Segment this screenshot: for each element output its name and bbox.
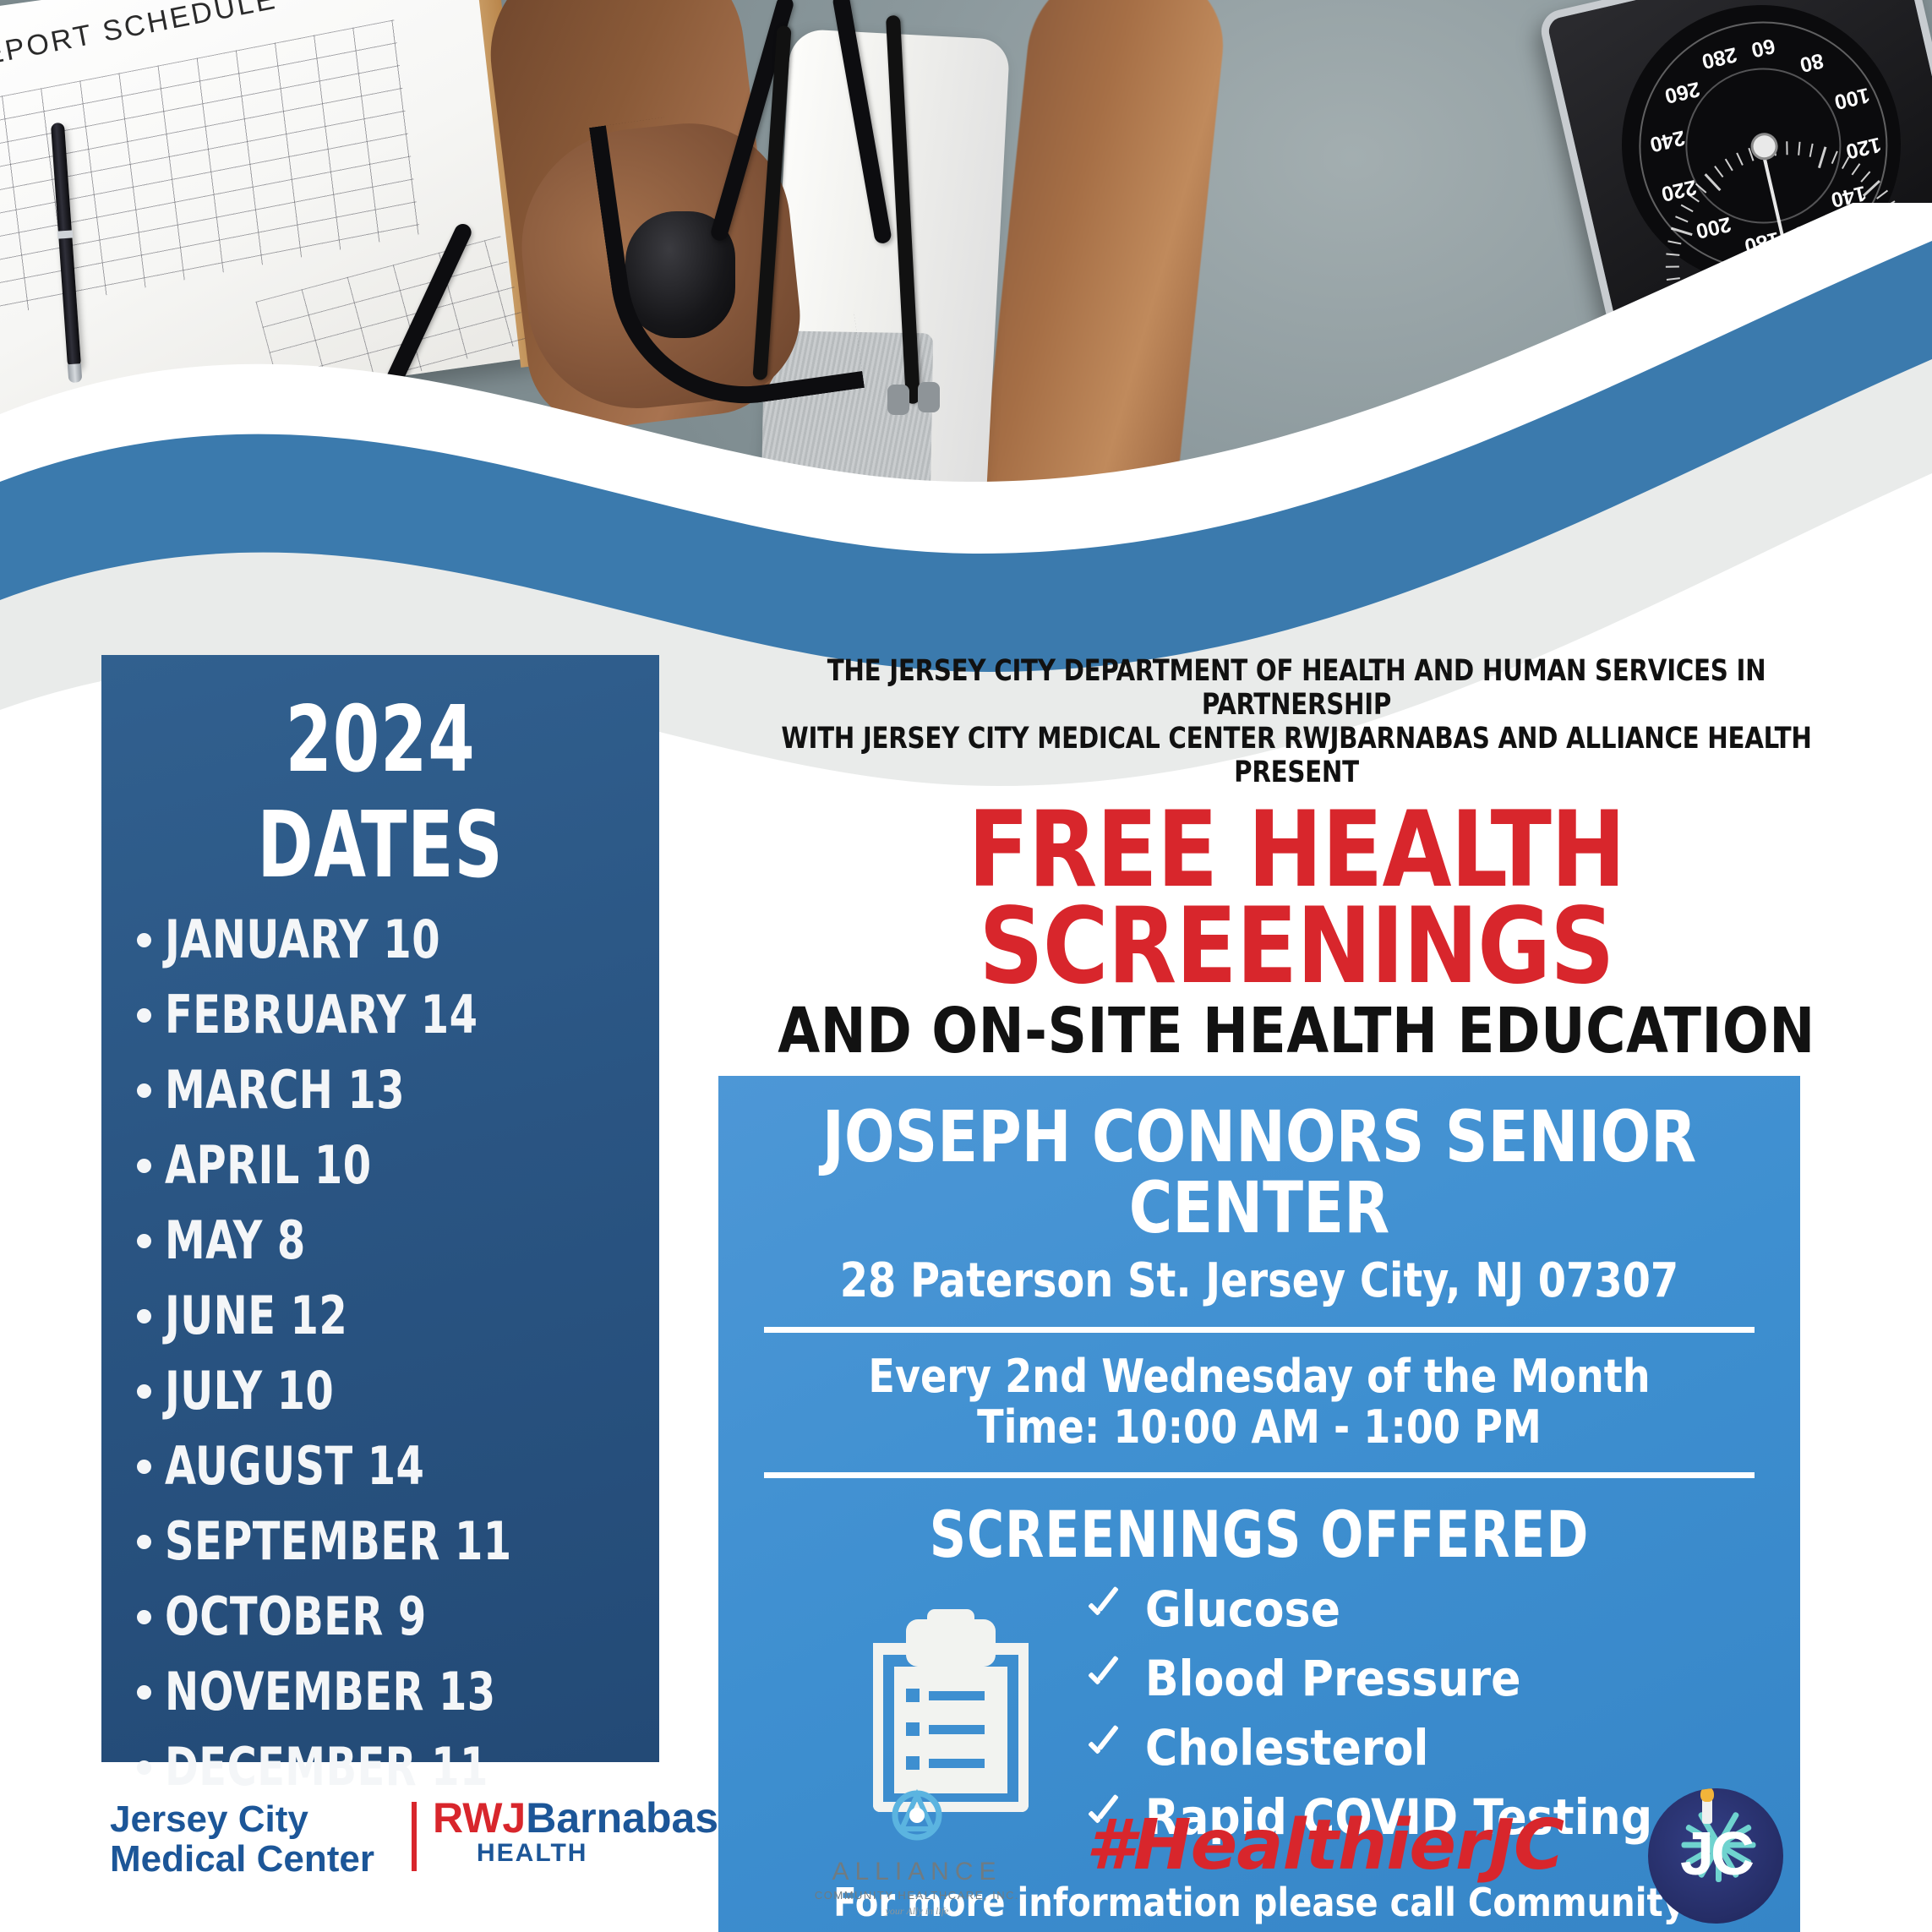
schedule-line-2: Time: 10:00 AM - 1:00 PM <box>781 1402 1738 1453</box>
schedule-text: Every 2nd Wednesday of the Month Time: 1… <box>781 1351 1738 1454</box>
right-column: THE JERSEY CITY DEPARTMENT OF HEALTH AND… <box>718 655 1875 1932</box>
seal-flame-icon <box>1700 1788 1714 1802</box>
dates-panel-title: 2024 DATES <box>151 687 609 898</box>
jersey-city-seal-logo: JC <box>1648 1788 1783 1924</box>
screenings-offered-title: SCREENINGS OFFERED <box>816 1497 1703 1572</box>
date-list-item: FEBRUARY 14 <box>137 989 659 1041</box>
jcmc-line-2: Medical Center <box>110 1840 374 1880</box>
screening-item: Blood Pressure <box>1084 1650 1652 1707</box>
presenter-line-2: WITH JERSEY CITY MEDICAL CENTER RWJBARNA… <box>759 723 1834 790</box>
jcmc-logo: Jersey City Medical Center <box>110 1800 374 1879</box>
screening-label: Blood Pressure <box>1145 1650 1521 1707</box>
rwj-health-text: HEALTH <box>477 1839 718 1868</box>
date-label: MAY 8 <box>165 1214 306 1267</box>
screening-label: Glucose <box>1145 1580 1340 1638</box>
dates-list: JANUARY 10FEBRUARY 14MARCH 13APRIL 10MAY… <box>101 914 659 1793</box>
alliance-tagline: your Ally in life <box>811 1905 1023 1918</box>
screening-item: Glucose <box>1084 1580 1652 1638</box>
health-screening-flyer: REPORT SCHEDULE 608010012014016018020022… <box>0 0 1932 1932</box>
date-label: FEBRUARY 14 <box>165 989 478 1041</box>
date-list-item: NOVEMBER 13 <box>137 1666 659 1718</box>
dates-panel: 2024 DATES JANUARY 10FEBRUARY 14MARCH 13… <box>101 655 659 1762</box>
schedule-line-1: Every 2nd Wednesday of the Month <box>781 1351 1738 1402</box>
date-list-item: APRIL 10 <box>137 1139 659 1192</box>
seal-text: JC <box>1648 1824 1783 1885</box>
date-list-item: SEPTEMBER 11 <box>137 1515 659 1568</box>
screening-label: Cholesterol <box>1145 1719 1428 1776</box>
bullet-icon <box>137 1535 151 1549</box>
bullet-icon <box>137 1008 151 1023</box>
screening-item: Cholesterol <box>1084 1719 1652 1776</box>
bullet-icon <box>137 1760 151 1775</box>
rwj-blue-text: Barnabas <box>526 1794 718 1842</box>
date-list-item: AUGUST 14 <box>137 1440 659 1493</box>
main-headline: FREE HEALTH SCREENINGS <box>747 802 1846 995</box>
date-list-item: DECEMBER 11 <box>137 1741 659 1793</box>
date-list-item: JUNE 12 <box>137 1290 659 1342</box>
check-icon <box>1084 1590 1123 1629</box>
date-label: SEPTEMBER 11 <box>165 1515 512 1568</box>
date-label: AUGUST 14 <box>165 1440 424 1493</box>
alliance-name: ALLIANCE <box>811 1858 1023 1886</box>
presenter-text: THE JERSEY CITY DEPARTMENT OF HEALTH AND… <box>759 655 1834 790</box>
date-label: NOVEMBER 13 <box>165 1666 496 1718</box>
bullet-icon <box>137 1685 151 1700</box>
date-label: DECEMBER 11 <box>165 1741 488 1793</box>
date-list-item: OCTOBER 9 <box>137 1591 659 1643</box>
footer-logos: Jersey City Medical Center RWJBarnabas H… <box>0 1792 1932 1932</box>
venue-name: JOSEPH CONNORS SENIOR CENTER <box>791 1101 1728 1243</box>
alliance-subtitle: COMMUNITY HEALTHCARE, INC. <box>811 1889 1023 1902</box>
date-label: JUNE 12 <box>165 1290 347 1342</box>
bullet-icon <box>137 1460 151 1474</box>
check-icon <box>1084 1659 1123 1698</box>
bullet-icon <box>137 1309 151 1323</box>
alliance-logo: ALLIANCE COMMUNITY HEALTHCARE, INC. your… <box>811 1787 1023 1918</box>
divider-rule-bottom <box>764 1472 1755 1478</box>
date-label: JULY 10 <box>165 1365 334 1417</box>
date-list-item: JULY 10 <box>137 1365 659 1417</box>
bullet-icon <box>137 1083 151 1098</box>
bullet-icon <box>137 1234 151 1248</box>
date-label: MARCH 13 <box>165 1064 405 1116</box>
healthier-jc-hashtag: #HealthierJC <box>1086 1805 1564 1886</box>
bullet-icon <box>137 933 151 947</box>
alliance-mark-icon <box>881 1787 952 1856</box>
date-label: JANUARY 10 <box>165 914 440 966</box>
bullet-icon <box>137 1384 151 1399</box>
bullet-icon <box>137 1159 151 1173</box>
check-icon <box>1084 1728 1123 1767</box>
presenter-line-1: THE JERSEY CITY DEPARTMENT OF HEALTH AND… <box>759 655 1834 723</box>
bullet-icon <box>137 1610 151 1624</box>
date-list-item: JANUARY 10 <box>137 914 659 966</box>
rwj-red-text: RWJ <box>433 1794 526 1842</box>
date-label: OCTOBER 9 <box>165 1591 427 1643</box>
jcmc-line-1: Jersey City <box>110 1800 374 1840</box>
date-label: APRIL 10 <box>165 1139 372 1192</box>
divider-rule-top <box>764 1327 1755 1333</box>
sub-headline: AND ON-SITE HEALTH EDUCATION <box>736 1000 1858 1062</box>
date-list-item: MARCH 13 <box>137 1064 659 1116</box>
venue-address: 28 Paterson St. Jersey City, NJ 07307 <box>781 1253 1738 1308</box>
rwjbarnabas-logo: RWJBarnabas HEALTH <box>433 1797 718 1868</box>
logo-divider <box>412 1802 417 1871</box>
date-list-item: MAY 8 <box>137 1214 659 1267</box>
